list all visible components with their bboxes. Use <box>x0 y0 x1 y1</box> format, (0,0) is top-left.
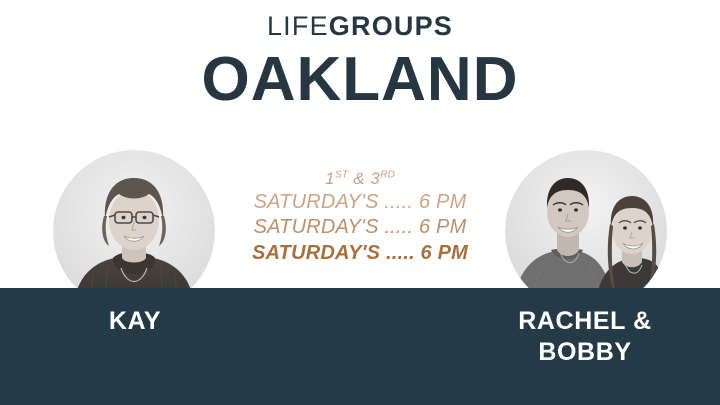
leader-name-right-line2: BOBBY <box>485 337 685 368</box>
schedule-line-1: SATURDAY'S ..... 6 PM <box>0 190 720 216</box>
schedule-block: 1ST & 3RD SATURDAY'S ..... 6 PM SATURDAY… <box>0 168 720 267</box>
brand-word-groups: GROUPS <box>329 11 453 41</box>
brand-lockup: LIFEGROUPS <box>0 13 720 40</box>
lifegroups-poster: LIFEGROUPS OAKLAND <box>0 0 720 405</box>
schedule-heading-sup-third: RD <box>380 169 395 180</box>
leader-name-bar: KAY RACHEL & BOBBY <box>0 288 720 405</box>
schedule-heading-sup-first: ST <box>335 169 348 180</box>
schedule-heading-prefix: 1 <box>325 169 335 188</box>
leader-name-right-line1: RACHEL & <box>485 306 685 337</box>
leader-name-right: RACHEL & BOBBY <box>485 306 685 367</box>
schedule-heading-mid: & 3 <box>348 169 380 188</box>
schedule-heading: 1ST & 3RD <box>0 168 720 190</box>
schedule-line-3: SATURDAY'S ..... 6 PM <box>0 241 720 267</box>
schedule-line-2: SATURDAY'S ..... 6 PM <box>0 215 720 241</box>
brand-word-life: LIFE <box>267 11 329 41</box>
poster-header: LIFEGROUPS OAKLAND <box>0 0 720 111</box>
page-title-city: OAKLAND <box>0 49 720 111</box>
leader-name-left: KAY <box>35 306 235 337</box>
